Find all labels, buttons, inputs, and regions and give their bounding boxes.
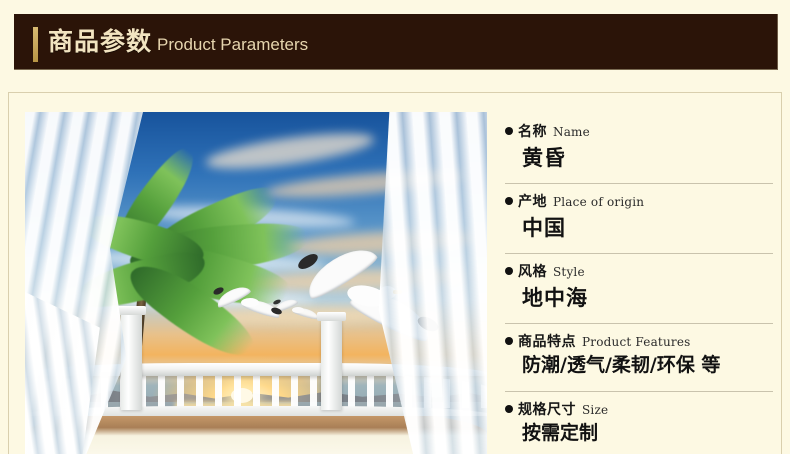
parameter-row-name: 名称 Name 黄昏 (505, 123, 773, 177)
parameter-list: 名称 Name 黄昏 产地 Place of origin 中国 风格 Styl… (505, 123, 773, 453)
page-title-en: Product Parameters (157, 32, 308, 58)
parameter-label-cn: 风格 (518, 263, 547, 281)
parameter-value: 防潮/透气/柔韧/环保 等 (522, 352, 773, 379)
seagull-body (241, 298, 259, 307)
parameter-label: 规格尺寸 Size (505, 401, 773, 419)
bullet-icon (505, 337, 513, 345)
bullet-icon (505, 197, 513, 205)
parameter-label-cn: 产地 (518, 193, 547, 211)
parameter-label-en: Place of origin (553, 193, 644, 211)
parameter-label-en: Style (553, 263, 585, 281)
bullet-icon (505, 267, 513, 275)
product-photo (25, 112, 487, 454)
parameter-value: 黄昏 (522, 144, 773, 171)
parameter-label-en: Name (553, 123, 590, 141)
parameter-label-cn: 名称 (518, 123, 547, 141)
parameter-row-size: 规格尺寸 Size 按需定制 (505, 391, 773, 453)
product-parameters-page: 商品参数 Product Parameters (0, 0, 790, 454)
seagull-icon (213, 288, 283, 324)
balcony-post (321, 320, 342, 410)
parameter-label: 产地 Place of origin (505, 193, 773, 211)
parameter-label-cn: 规格尺寸 (518, 401, 576, 419)
parameter-value: 按需定制 (522, 420, 773, 447)
parameter-row-product-features: 商品特点 Product Features 防潮/透气/柔韧/环保 等 (505, 323, 773, 385)
parameter-row-style: 风格 Style 地中海 (505, 253, 773, 317)
section-header-bar: 商品参数 Product Parameters (14, 14, 778, 70)
parameter-label: 名称 Name (505, 123, 773, 141)
parameter-label-en: Size (582, 401, 608, 419)
parameter-value: 中国 (522, 214, 773, 241)
parameter-row-place-of-origin: 产地 Place of origin 中国 (505, 183, 773, 247)
header-accent-bar (33, 27, 38, 62)
parameter-label: 商品特点 Product Features (505, 333, 773, 351)
bullet-icon (505, 405, 513, 413)
page-title-cn: 商品参数 (48, 24, 152, 60)
parameter-label: 风格 Style (505, 263, 773, 281)
parameter-label-cn: 商品特点 (518, 333, 576, 351)
parameter-label-en: Product Features (582, 333, 690, 351)
bullet-icon (505, 127, 513, 135)
parameter-value: 地中海 (522, 284, 773, 311)
